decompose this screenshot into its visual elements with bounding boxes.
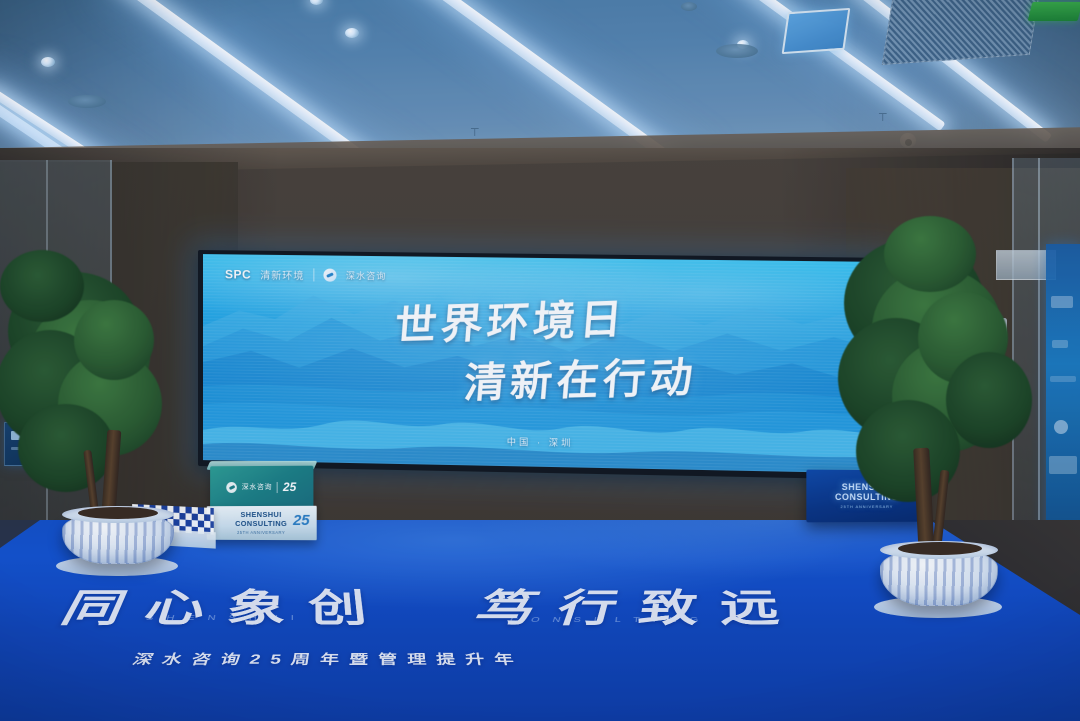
recessed-downlight [345,28,359,38]
left-podium-number: 25 [283,480,296,494]
blue-wall-panel-right [1046,244,1080,544]
left-podium-brand-line2: CONSULTING [235,520,287,529]
recessed-downlight [41,57,55,67]
foliage-mass [18,404,114,492]
smoke-detector [681,2,697,11]
led-screen-surface: SPC 清新环境 深水咨询 世界环境日 清新在行动 中国 · 深圳 [203,254,886,474]
shenshui-logo-icon [226,482,237,493]
ceiling-speaker [68,95,106,108]
hvac-return-grille [882,0,1041,65]
panel-logo-mark [1054,420,1068,434]
screen-logo-row: SPC 清新环境 深水咨询 [225,266,386,283]
panel-detail [1051,296,1073,308]
left-podium-logo-row: 深水咨询 25 [210,466,313,509]
emergency-exit-sign [1028,2,1080,21]
scene-photo: ⊤ ⊤ ⊤ [0,0,1080,721]
left-podium-anniversary-number: 25 [293,512,310,529]
logo-divider [314,268,315,281]
panel-detail [1049,456,1077,474]
left-podium-brand-sub: 25TH ANNIVERSARY [237,530,285,535]
panel-detail [1052,340,1068,348]
foliage-mass [0,250,84,322]
pot-soil [898,542,982,555]
panel-detail [1050,376,1076,382]
left-podium-cn: 深水咨询 [242,482,272,492]
shenshui-logo-icon [324,269,337,282]
foliage-mass [946,352,1032,448]
sprinkler-head: ⊤ [878,113,888,124]
pot-soil [78,507,158,519]
ceiling-speaker [716,44,758,58]
sprinkler-head: ⊤ [470,128,480,139]
right-podium-sub: 25TH ANNIVERSARY [840,504,893,509]
shenshui-logo-cn: 深水咨询 [346,269,386,283]
foliage-mass [884,216,976,292]
logo-divider [277,481,278,492]
spc-logo-cn: 清新环境 [260,267,304,283]
foliage-mass [74,300,154,380]
left-display-podium[interactable]: 深水咨询 25 [210,466,313,509]
glass-door-mullion [1038,158,1040,578]
led-video-wall[interactable]: SPC 清新环境 深水咨询 世界环境日 清新在行动 中国 · 深圳 [198,250,892,480]
left-podium-front-panel[interactable]: SHENSHUI CONSULTING 25TH ANNIVERSARY 25 [207,506,317,540]
blue-light-panel [782,8,851,54]
spc-logo-text: SPC [225,267,251,281]
